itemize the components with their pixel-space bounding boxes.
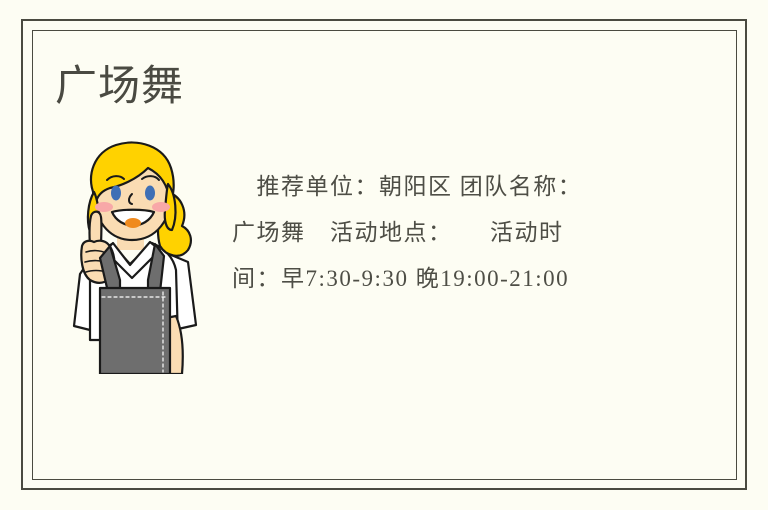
activity-details-text: 推荐单位：朝阳区 团队名称：广场舞 活动地点： 活动时间：早7:30-9:30 … bbox=[232, 164, 604, 302]
smiling-woman-pointing-up-illustration bbox=[60, 140, 212, 374]
page-title: 广场舞 bbox=[55, 63, 184, 109]
poster-card: 广场舞 bbox=[0, 0, 768, 510]
